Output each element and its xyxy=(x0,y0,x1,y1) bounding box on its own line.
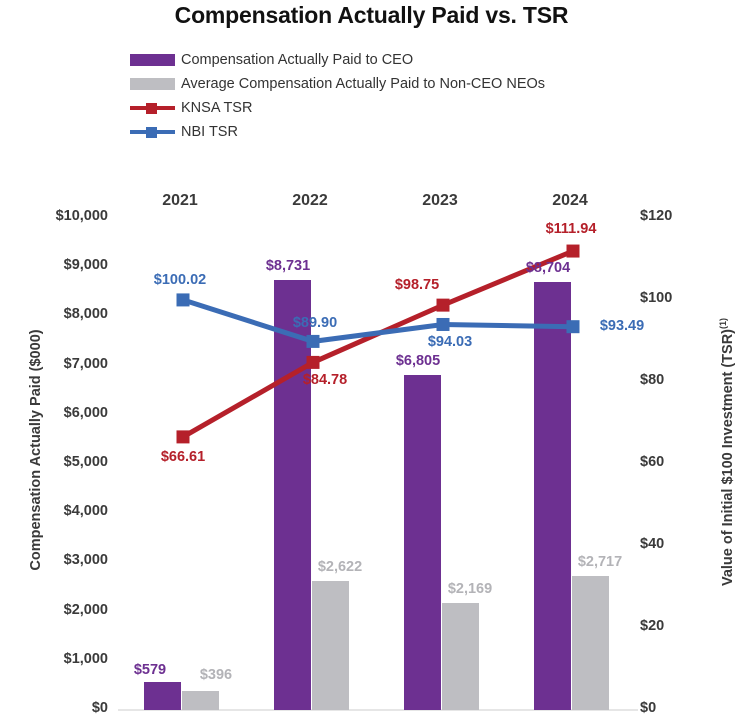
y-axis-left-ticks: $10,000$9,000$8,000$7,000$6,000$5,000$4,… xyxy=(0,0,108,725)
data-label-ceo-2023: $6,805 xyxy=(358,353,478,369)
y-axis-right-tick-label: $100 xyxy=(640,290,672,306)
y-axis-left-tick-label: $10,000 xyxy=(56,208,108,224)
legend-item-ceo[interactable]: Compensation Actually Paid to CEO xyxy=(130,48,545,72)
legend-item-knsa-tsr[interactable]: KNSA TSR xyxy=(130,96,545,120)
legend-label-knsa-tsr: KNSA TSR xyxy=(181,100,252,116)
x-axis-label-2023: 2023 xyxy=(400,192,480,210)
legend-item-nbi-tsr[interactable]: NBI TSR xyxy=(130,120,545,144)
y-axis-right-tick-label: $60 xyxy=(640,454,664,470)
y-axis-left-tick-label: $2,000 xyxy=(64,602,108,618)
legend-square-marker-knsa xyxy=(146,103,157,114)
y-axis-right-ticks: $120$100$80$60$40$20$0 xyxy=(640,0,710,725)
y-axis-left-tick-label: $0 xyxy=(92,700,108,716)
y-axis-right-title-text: Value of Initial $100 Investment (TSR) xyxy=(720,329,736,586)
data-label-nbi-tsr-2023: $94.03 xyxy=(390,334,510,350)
data-label-non-ceo-neos-2021: $396 xyxy=(156,667,276,683)
x-axis-label-2022: 2022 xyxy=(270,192,350,210)
marker-knsa-tsr-2024[interactable] xyxy=(567,245,580,258)
marker-knsa-tsr-2022[interactable] xyxy=(307,356,320,369)
marker-nbi-tsr-2021[interactable] xyxy=(177,293,190,306)
data-label-non-ceo-neos-2022: $2,622 xyxy=(280,559,400,575)
data-label-knsa-tsr-2023: $98.75 xyxy=(357,277,477,293)
chart-title: Compensation Actually Paid vs. TSR xyxy=(0,2,743,29)
legend-label-ceo: Compensation Actually Paid to CEO xyxy=(181,52,413,68)
data-label-nbi-tsr-2021: $100.02 xyxy=(120,272,240,288)
y-axis-left-tick-label: $5,000 xyxy=(64,454,108,470)
y-axis-right-tick-label: $0 xyxy=(640,700,656,716)
data-label-non-ceo-neos-2024: $2,717 xyxy=(540,554,660,570)
legend-swatch-ceo xyxy=(130,54,175,66)
data-label-knsa-tsr-2024: $111.94 xyxy=(511,221,631,237)
y-axis-left-tick-label: $8,000 xyxy=(64,306,108,322)
legend-square-marker-nbi xyxy=(146,127,157,138)
data-label-nbi-tsr-2024: $93.49 xyxy=(562,318,682,334)
legend-label-non-ceo-neos: Average Compensation Actually Paid to No… xyxy=(181,76,545,92)
marker-knsa-tsr-2021[interactable] xyxy=(177,430,190,443)
y-axis-left-tick-label: $6,000 xyxy=(64,405,108,421)
y-axis-right-tick-label: $40 xyxy=(640,536,664,552)
data-label-knsa-tsr-2022: $84.78 xyxy=(265,372,385,388)
y-axis-left-tick-label: $9,000 xyxy=(64,257,108,273)
x-axis-label-2024: 2024 xyxy=(530,192,610,210)
data-label-nbi-tsr-2022: $89.90 xyxy=(255,315,375,331)
data-label-non-ceo-neos-2023: $2,169 xyxy=(410,581,530,597)
marker-nbi-tsr-2022[interactable] xyxy=(307,335,320,348)
y-axis-left-tick-label: $3,000 xyxy=(64,552,108,568)
chart-legend: Compensation Actually Paid to CEO Averag… xyxy=(130,48,545,144)
legend-line-marker-knsa-tsr xyxy=(130,102,175,114)
y-axis-right-title-superscript: (1) xyxy=(718,318,728,329)
legend-item-non-ceo-neos[interactable]: Average Compensation Actually Paid to No… xyxy=(130,72,545,96)
data-label-knsa-tsr-2021: $66.61 xyxy=(123,449,243,465)
y-axis-left-tick-label: $4,000 xyxy=(64,503,108,519)
plot-area: 2021202220232024 $579$8,731$6,805$8,704$… xyxy=(118,218,638,710)
y-axis-left-tick-label: $7,000 xyxy=(64,356,108,372)
x-axis-label-2021: 2021 xyxy=(140,192,220,210)
y-axis-right-tick-label: $80 xyxy=(640,372,664,388)
legend-swatch-non-ceo-neos xyxy=(130,78,175,90)
marker-knsa-tsr-2023[interactable] xyxy=(437,299,450,312)
chart-container: Compensation Actually Paid vs. TSR Compe… xyxy=(0,0,743,725)
data-label-ceo-2022: $8,731 xyxy=(228,258,348,274)
data-label-ceo-2024: $8,704 xyxy=(488,260,608,276)
y-axis-right-tick-label: $120 xyxy=(640,208,672,224)
y-axis-right-tick-label: $20 xyxy=(640,618,664,634)
line-nbi-tsr[interactable] xyxy=(183,300,573,341)
legend-line-marker-nbi-tsr xyxy=(130,126,175,138)
legend-label-nbi-tsr: NBI TSR xyxy=(181,124,238,140)
y-axis-right-title: Value of Initial $100 Investment (TSR)(1… xyxy=(718,202,736,702)
marker-nbi-tsr-2023[interactable] xyxy=(437,318,450,331)
